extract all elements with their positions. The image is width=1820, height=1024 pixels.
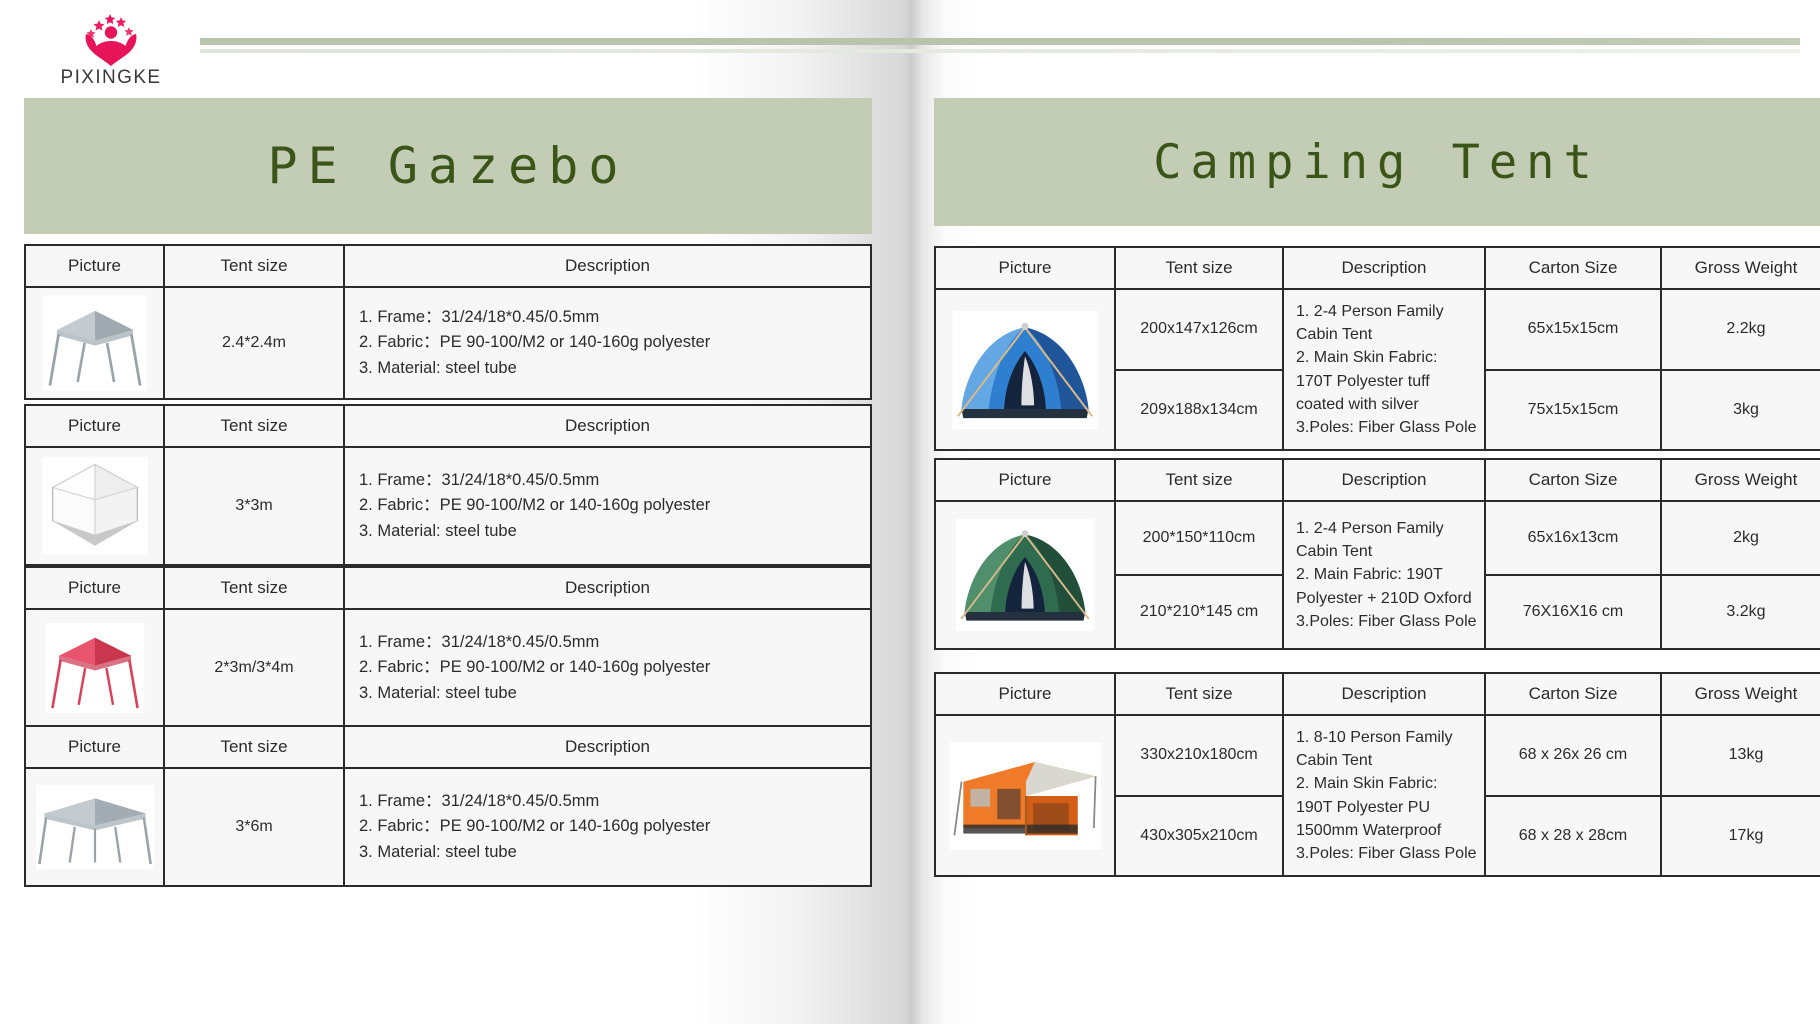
tent-size-value: 330x210x180cm [1115,715,1283,796]
tent-size-value: 2*3m/3*4m [164,609,344,727]
column-header: Gross Weight [1661,459,1820,501]
catalog-page: PIXINGKE PE Gazebo Camping Tent PictureT… [0,0,1820,1024]
table-row: 2.4*2.4m1. Frame：31/24/18*0.45/0.5mm 2. … [25,287,871,399]
description-value: 1. 2-4 Person Family Cabin Tent 2. Main … [1283,501,1485,649]
gazebo-gray-canopy-icon [25,287,164,399]
gross-weight-value: 3.2kg [1661,575,1820,649]
column-header: Tent size [1115,247,1283,289]
carton-size-value: 76X16X16 cm [1485,575,1661,649]
orange-cabin-tent-icon [935,715,1115,876]
gazebo-white-canopy-icon [25,447,164,565]
gazebo-table: PictureTent sizeDescription 2*3m/3*4m1. … [24,566,872,728]
table-row: 200x147x126cm1. 2-4 Person Family Cabin … [935,289,1820,370]
carton-size-value: 68 x 28 x 28cm [1485,796,1661,877]
column-header: Carton Size [1485,459,1661,501]
header-rule-secondary [200,49,1800,53]
gross-weight-value: 13kg [1661,715,1820,796]
column-header: Picture [25,726,164,768]
description-value: 1. 8-10 Person Family Cabin Tent 2. Main… [1283,715,1485,876]
table-row: 2*3m/3*4m1. Frame：31/24/18*0.45/0.5mm 2.… [25,609,871,727]
left-section-title: PE Gazebo [268,137,629,195]
gross-weight-value: 2kg [1661,501,1820,575]
carton-size-value: 65x16x13cm [1485,501,1661,575]
column-header: Gross Weight [1661,247,1820,289]
green-dome-tent-icon [935,501,1115,649]
column-header: Picture [935,247,1115,289]
column-header: Picture [25,245,164,287]
brand-name: PIXINGKE [52,67,170,89]
table-header-row: PictureTent sizeDescriptionCarton SizeGr… [935,673,1820,715]
gazebo-red-canopy-icon [25,609,164,727]
table-row: 200*150*110cm1. 2-4 Person Family Cabin … [935,501,1820,575]
table-header-row: PictureTent sizeDescription [25,726,871,768]
column-header: Tent size [164,405,344,447]
page-header: PIXINGKE [0,0,910,100]
column-header: Description [344,567,871,609]
tent-size-value: 3*6m [164,768,344,886]
carton-size-value: 68 x 26x 26 cm [1485,715,1661,796]
tent-size-value: 3*3m [164,447,344,565]
table-header-row: PictureTent sizeDescriptionCarton SizeGr… [935,247,1820,289]
column-header: Description [344,245,871,287]
tent-size-value: 430x305x210cm [1115,796,1283,877]
column-header: Tent size [164,245,344,287]
table-row: 3*6m1. Frame：31/24/18*0.45/0.5mm 2. Fabr… [25,768,871,886]
gazebo-gray-long-canopy-icon [25,768,164,886]
column-header: Tent size [164,567,344,609]
carton-size-value: 75x15x15cm [1485,370,1661,451]
table-row: 330x210x180cm1. 8-10 Person Family Cabin… [935,715,1820,796]
tent-size-value: 200x147x126cm [1115,289,1283,370]
camping-tent-table: PictureTent sizeDescriptionCarton SizeGr… [934,672,1820,877]
column-header: Picture [25,567,164,609]
column-header: Gross Weight [1661,673,1820,715]
column-header: Description [1283,459,1485,501]
tent-size-value: 209x188x134cm [1115,370,1283,451]
table-header-row: PictureTent sizeDescription [25,567,871,609]
column-header: Picture [935,673,1115,715]
header-rule-primary [200,38,1800,45]
gazebo-table: PictureTent sizeDescription 2.4*2.4m1. F… [24,244,872,400]
brand-logo: PIXINGKE [52,8,170,94]
column-header: Description [344,405,871,447]
tent-size-value: 200*150*110cm [1115,501,1283,575]
tent-size-value: 2.4*2.4m [164,287,344,399]
blue-dome-tent-icon [935,289,1115,450]
carton-size-value: 65x15x15cm [1485,289,1661,370]
gross-weight-value: 2.2kg [1661,289,1820,370]
gross-weight-value: 17kg [1661,796,1820,877]
right-section-banner: Camping Tent [934,98,1820,226]
left-section-banner: PE Gazebo [24,98,872,234]
description-value: 1. Frame：31/24/18*0.45/0.5mm 2. Fabric：P… [344,287,871,399]
column-header: Tent size [1115,459,1283,501]
column-header: Tent size [1115,673,1283,715]
table-header-row: PictureTent sizeDescription [25,245,871,287]
description-value: 1. 2-4 Person Family Cabin Tent 2. Main … [1283,289,1485,450]
table-row: 3*3m1. Frame：31/24/18*0.45/0.5mm 2. Fabr… [25,447,871,565]
column-header: Description [1283,673,1485,715]
column-header: Carton Size [1485,247,1661,289]
table-header-row: PictureTent sizeDescription [25,405,871,447]
column-header: Tent size [164,726,344,768]
column-header: Description [1283,247,1485,289]
gross-weight-value: 3kg [1661,370,1820,451]
star-figure-logo-icon [69,8,153,66]
column-header: Picture [25,405,164,447]
tent-size-value: 210*210*145 cm [1115,575,1283,649]
header-rule [200,38,1800,60]
column-header: Description [344,726,871,768]
description-value: 1. Frame：31/24/18*0.45/0.5mm 2. Fabric：P… [344,447,871,565]
column-header: Picture [935,459,1115,501]
camping-tent-table: PictureTent sizeDescriptionCarton SizeGr… [934,246,1820,451]
description-value: 1. Frame：31/24/18*0.45/0.5mm 2. Fabric：P… [344,609,871,727]
column-header: Carton Size [1485,673,1661,715]
gazebo-table: PictureTent sizeDescription 3*6m1. Frame… [24,725,872,887]
right-section-title: Camping Tent [1153,135,1601,190]
description-value: 1. Frame：31/24/18*0.45/0.5mm 2. Fabric：P… [344,768,871,886]
camping-tent-table: PictureTent sizeDescriptionCarton SizeGr… [934,458,1820,650]
gazebo-table: PictureTent sizeDescription 3*3m1. Frame… [24,404,872,566]
table-header-row: PictureTent sizeDescriptionCarton SizeGr… [935,459,1820,501]
